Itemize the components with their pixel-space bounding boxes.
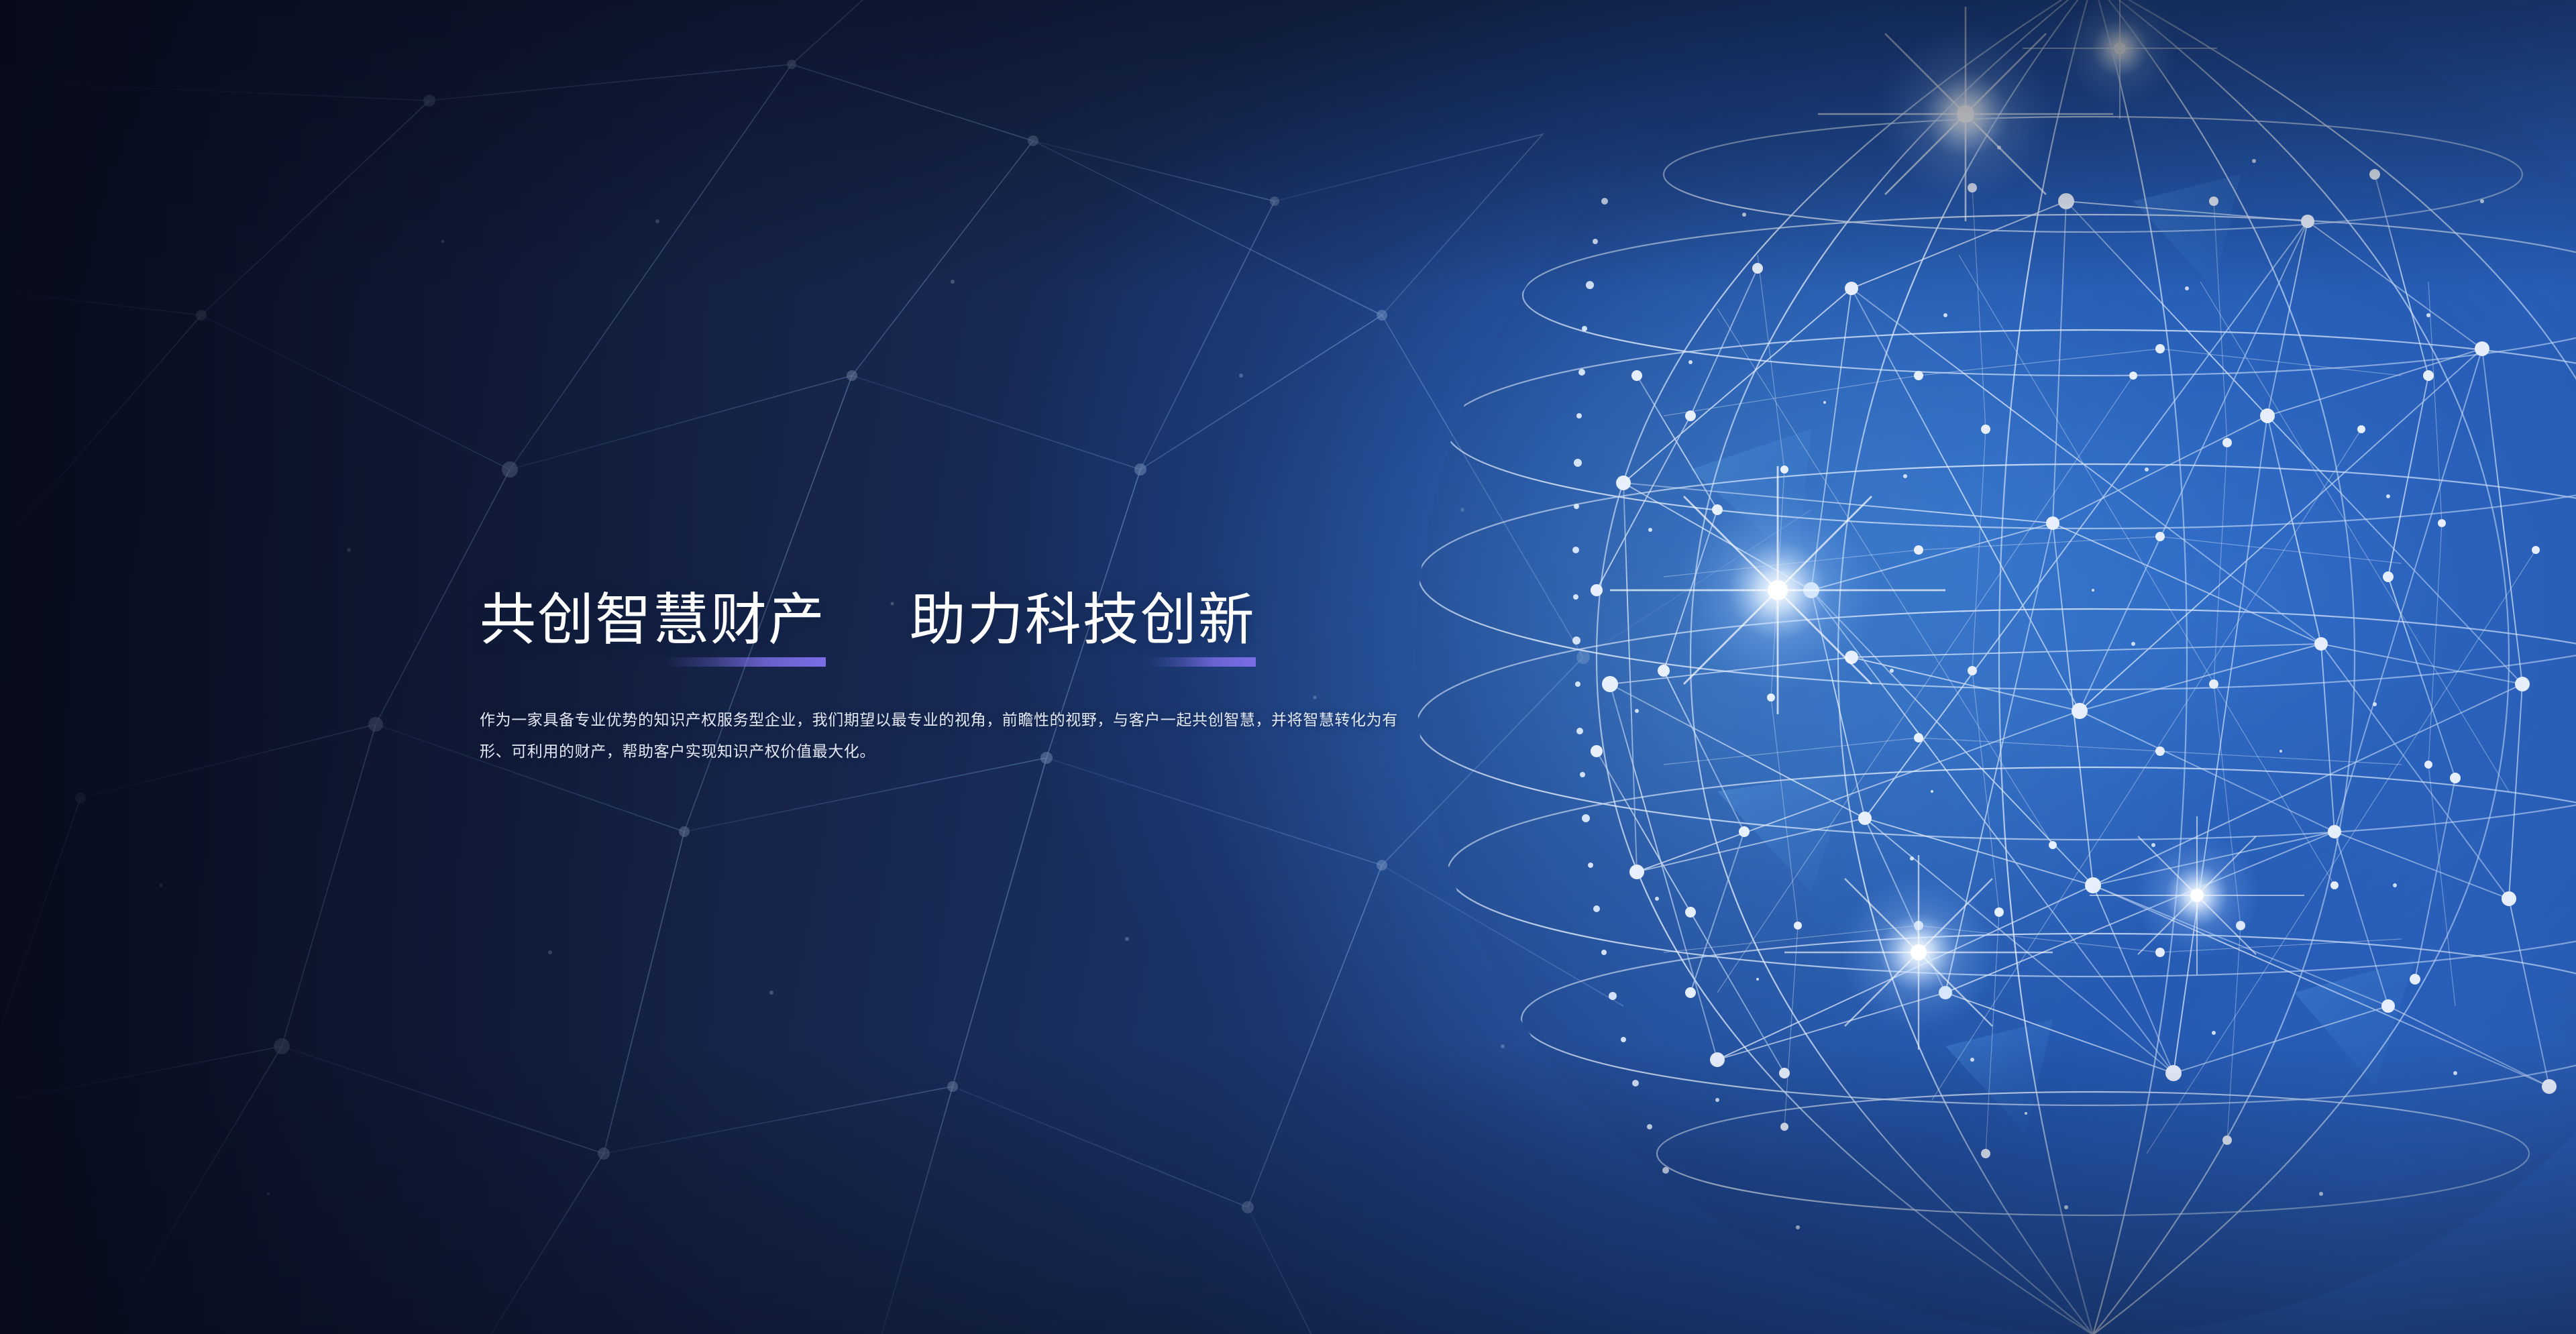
headline-segment-2: 助力科技创新 — [910, 592, 1256, 648]
headline-segment-1-text: 共创智慧财产 — [480, 588, 826, 651]
headline-accent-bar-1 — [665, 657, 826, 667]
headline-segment-2-text: 助力科技创新 — [910, 588, 1256, 651]
headline-segment-1: 共创智慧财产 — [480, 592, 826, 648]
headline-accent-bar-2 — [1148, 657, 1256, 667]
hero-banner: 共创智慧财产 助力科技创新 作为一家具备专业优势的知识产权服务型企业，我们期望以… — [0, 0, 2576, 1334]
hero-content: 共创智慧财产 助力科技创新 作为一家具备专业优势的知识产权服务型企业，我们期望以… — [480, 554, 1439, 783]
star-flare-group — [1610, 0, 2304, 1050]
page-title: 共创智慧财产 助力科技创新 — [480, 592, 1439, 648]
hero-description: 作为一家具备专业优势的知识产权服务型企业，我们期望以最专业的视角，前瞻性的视野，… — [480, 704, 1405, 767]
